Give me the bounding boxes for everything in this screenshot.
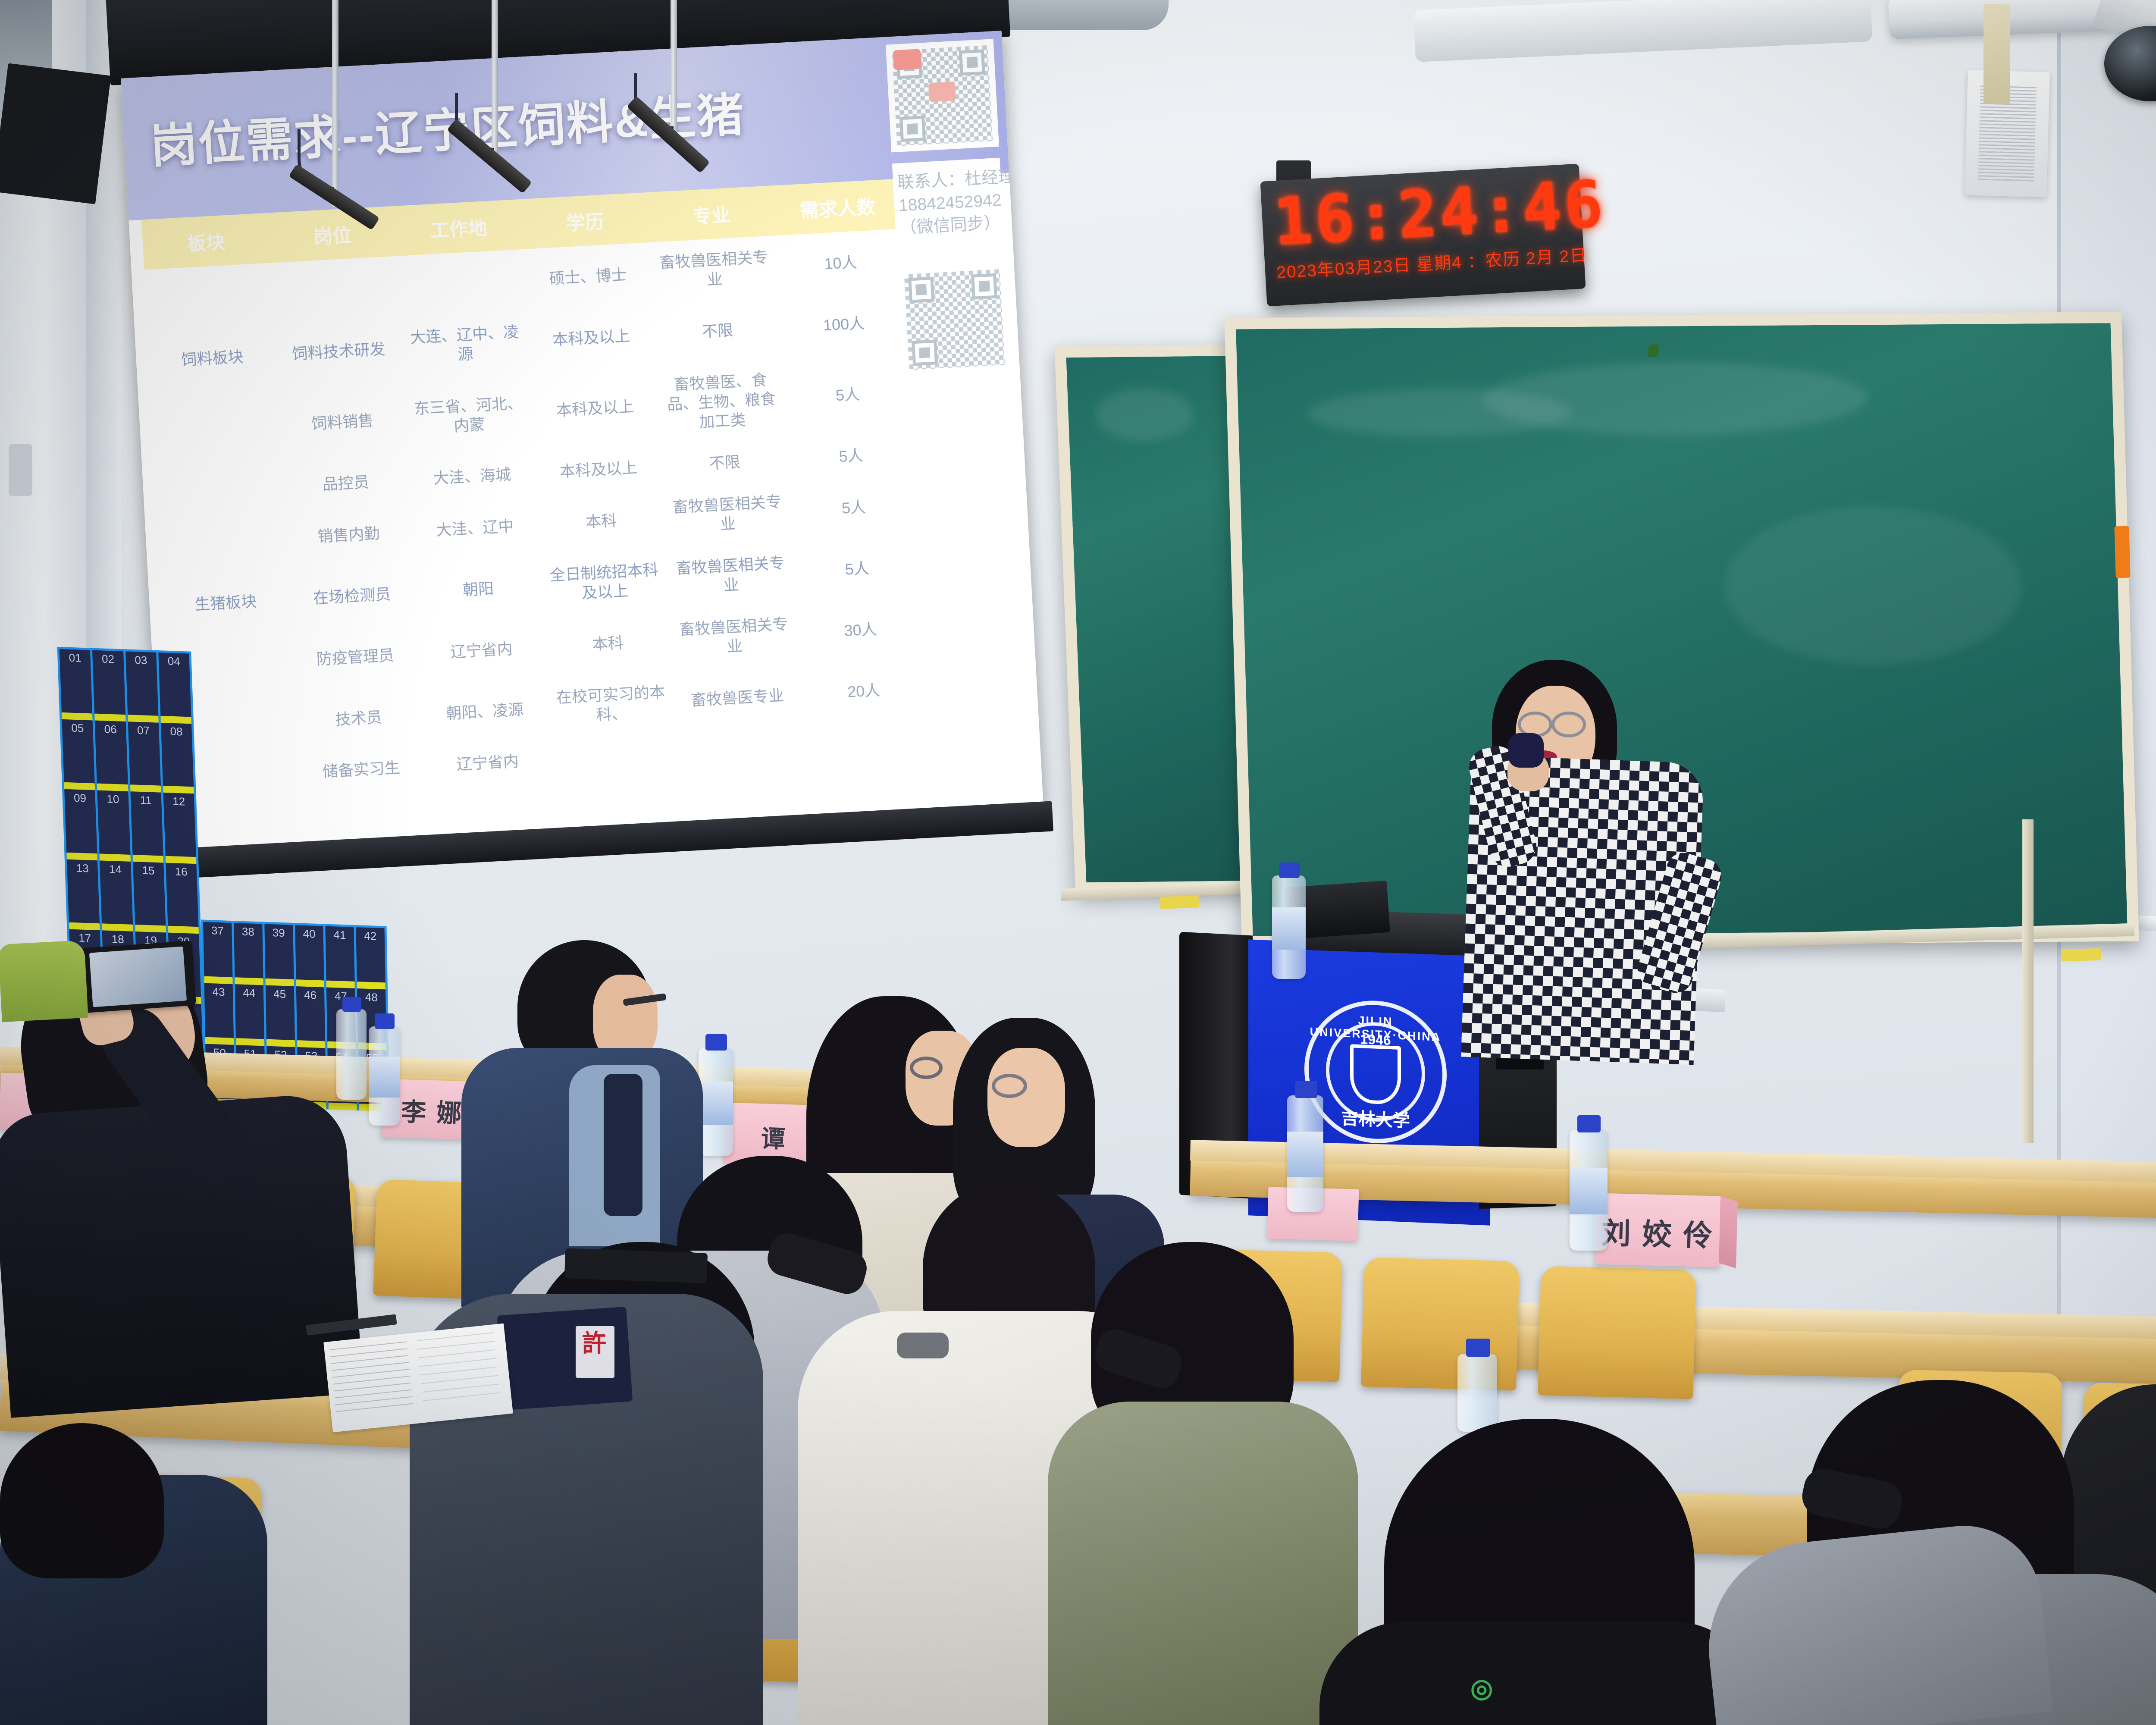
projection-screen: 岗位需求--辽宁区饲料&生猪 板块 岗位 工作地 学历 专业 需求人数 — [121, 31, 1043, 853]
table-header-cell: 工作地 — [394, 199, 523, 256]
pocket-slot: 03 — [125, 651, 159, 720]
pocket-slot: 42 — [356, 927, 385, 987]
contact-info-card: 联系人：杜经理 18842452942 （微信同步） — [892, 158, 1005, 257]
seal-chinese-name: 吉林大学 — [1309, 1103, 1442, 1134]
pocket-slot: 09 — [64, 789, 97, 858]
water-bottle — [1272, 875, 1306, 979]
pocket-slot: 07 — [128, 721, 161, 790]
table-header-cell: 学历 — [520, 192, 649, 249]
pocket-slot: 13 — [67, 859, 100, 928]
necktie — [604, 1074, 642, 1216]
name-card-side — [1719, 1196, 1737, 1268]
name-card: 刘 姣 伶 — [1595, 1193, 1721, 1267]
jilin-university-seal-icon: JILIN UNIVERSITY·CHINA 1946 吉林大学 — [1304, 998, 1447, 1146]
table-header-cell: 岗位 — [268, 206, 397, 263]
pocket-slot: 37 — [203, 922, 232, 982]
table-header-cell: 需求人数 — [773, 179, 902, 235]
pocket-slot: 11 — [130, 791, 163, 860]
slide-table: 板块 岗位 工作地 学历 专业 需求人数 硕士、博士畜牧兽医相关专业10人 饲料… — [141, 179, 931, 800]
clock-time: 16:24:46 — [1272, 174, 1572, 255]
pocket-slot: 01 — [60, 649, 93, 718]
pocket-slot: 40 — [295, 925, 324, 985]
chalk-eraser-left — [1159, 895, 1199, 909]
pocket-slot: 06 — [95, 720, 128, 789]
microphone-icon — [1508, 733, 1544, 768]
contact-note: （微信同步） — [899, 212, 1000, 240]
table-header-cell: 板块 — [141, 213, 270, 270]
pocket-slot: 41 — [326, 926, 355, 986]
wall-bracket — [1984, 4, 2010, 103]
pocket-slot: 15 — [133, 862, 166, 931]
table-body: 硕士、博士畜牧兽医相关专业10人 饲料板块饲料技术研发大连、辽中、凌源本科及以上… — [144, 229, 931, 800]
name-card-text: 李 娜 — [401, 1091, 464, 1139]
water-bottle — [1457, 1354, 1497, 1432]
pocket-slot: 08 — [161, 722, 194, 791]
left-dark-panel — [0, 63, 111, 204]
shirt-logo-text: ◎ — [1470, 1673, 1557, 1703]
open-notebook — [323, 1324, 513, 1433]
pocket-slot: 44 — [235, 984, 264, 1044]
board-clip-orange — [2114, 526, 2130, 578]
slide-sidebar: 联系人：杜经理 18842452942 （微信同步） — [886, 39, 1012, 387]
table-header-cell: 专业 — [647, 185, 776, 242]
eyeglasses-icon — [992, 1074, 1027, 1098]
name-card-text: 刘 姣 伶 — [1601, 1209, 1715, 1267]
qr-code-bottom-icon — [904, 269, 1005, 370]
qr-card-bottom — [898, 263, 1011, 376]
water-bottle — [369, 1026, 400, 1126]
presentation-slide: 岗位需求--辽宁区饲料&生猪 板块 岗位 工作地 学历 专业 需求人数 — [121, 31, 1043, 853]
pocket-slot: 14 — [100, 860, 133, 929]
pocket-slot: 10 — [97, 790, 131, 859]
presenter-glasses-right-icon — [1551, 712, 1586, 737]
coat-collar-detail — [897, 1333, 949, 1358]
wall-fixture-left — [9, 444, 32, 496]
pocket-slot: 05 — [62, 719, 95, 788]
water-bottle — [1570, 1130, 1608, 1251]
pocket-slot: 12 — [163, 793, 196, 862]
green-chair-back — [0, 940, 88, 1022]
pocket-slot: 43 — [204, 983, 234, 1043]
qr-card-top — [886, 39, 999, 152]
classroom-scene: 岗位需求--辽宁区饲料&生猪 板块 岗位 工作地 学历 专业 需求人数 — [0, 0, 2156, 1725]
water-bottle — [336, 1009, 367, 1100]
wechat-badge-icon — [893, 49, 921, 70]
smartphone-icon — [80, 941, 196, 1013]
audience-face — [987, 1048, 1065, 1147]
projection-screen-assembly: 岗位需求--辽宁区饲料&生猪 板块 岗位 工作地 学历 专业 需求人数 — [93, 0, 1112, 926]
pocket-slot: 16 — [166, 862, 199, 931]
pocket-slot: 02 — [92, 650, 125, 719]
tablet-device — [564, 1248, 708, 1283]
led-wall-clock: 16:24:46 2023年03月23日 星期4 ：农历 2月 2日 — [1260, 164, 1586, 307]
eyeglasses-icon — [910, 1057, 943, 1079]
pocket-slot: 46 — [296, 986, 325, 1046]
audience-olive-jacket — [1048, 1402, 1358, 1725]
jacket-print-char: 許 — [582, 1333, 606, 1366]
audience-hair — [0, 1423, 164, 1578]
pocket-slot: 39 — [264, 924, 294, 984]
pocket-slot: 04 — [158, 652, 191, 721]
water-bottle — [1287, 1095, 1323, 1212]
board-side-rail — [2022, 819, 2034, 1143]
pocket-slot: 45 — [265, 985, 295, 1045]
water-bottle — [699, 1048, 733, 1156]
chalk-eraser-main — [2061, 948, 2101, 962]
pocket-slot: 38 — [234, 923, 263, 983]
seat — [1538, 1266, 1696, 1399]
